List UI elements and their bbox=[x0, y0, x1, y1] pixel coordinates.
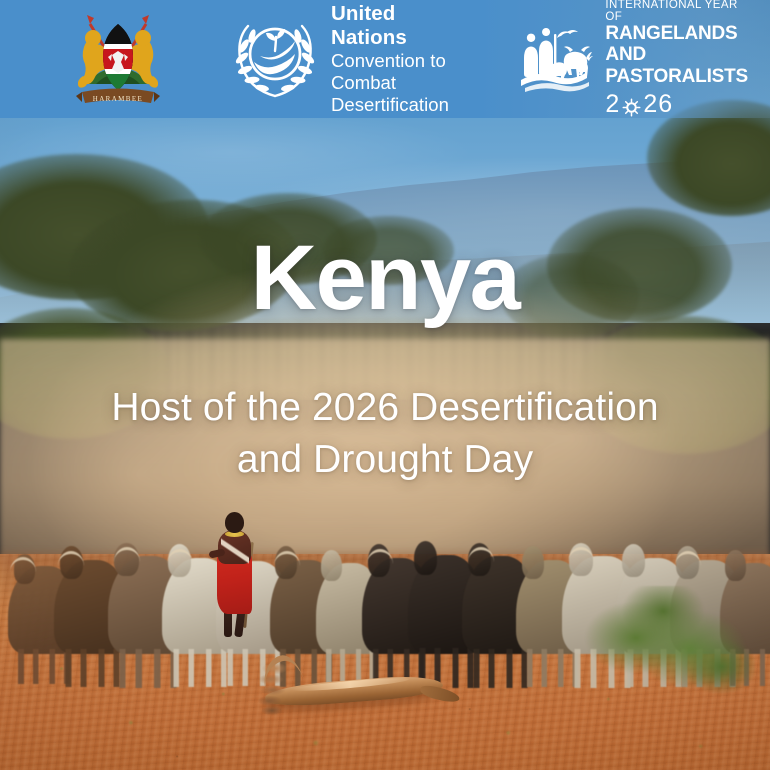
kenya-coat-of-arms-icon: HARAMBEE bbox=[66, 10, 170, 108]
cow-horn-icon bbox=[274, 551, 300, 566]
iyrp-year: 2 26 bbox=[605, 90, 748, 119]
kenya-coat-of-arms-logo: HARAMBEE bbox=[66, 10, 170, 108]
foreground-bush bbox=[585, 586, 755, 701]
cow-horn-icon bbox=[675, 551, 701, 566]
cow-horn-icon bbox=[114, 547, 140, 562]
iyrp-year-suffix: 26 bbox=[643, 90, 673, 119]
iyrp-2026-logo: INTERNATIONAL YEAR OF RANGELANDS AND PAS… bbox=[515, 0, 748, 119]
poster-root: HARAMBEE bbox=[0, 0, 770, 770]
page-title: Kenya bbox=[0, 232, 770, 324]
page-subtitle: Host of the 2026 Desertification and Dro… bbox=[0, 382, 770, 487]
unccd-line2: Convention to Combat bbox=[331, 50, 471, 94]
unccd-logo-text: United Nations Convention to Combat Dese… bbox=[331, 2, 471, 116]
subtitle-line-2: and Drought Day bbox=[48, 434, 722, 486]
cow-horn-icon bbox=[167, 549, 193, 564]
herder-head bbox=[225, 512, 244, 533]
iyrp-logo-text: INTERNATIONAL YEAR OF RANGELANDS AND PAS… bbox=[605, 0, 748, 119]
iyrp-line1: INTERNATIONAL YEAR OF bbox=[605, 0, 748, 23]
unccd-line1: United Nations bbox=[331, 2, 471, 50]
iyrp-year-prefix: 2 bbox=[605, 90, 620, 119]
maasai-herder bbox=[209, 512, 261, 637]
iyrp-line2: RANGELANDS AND bbox=[605, 23, 748, 66]
unccd-emblem-icon bbox=[232, 16, 318, 102]
herder-sash bbox=[221, 536, 249, 566]
iyrp-line3: PASTORALISTS bbox=[605, 66, 748, 87]
cow-horn-icon bbox=[58, 551, 84, 566]
cow-horn-icon bbox=[568, 547, 594, 562]
svg-text:HARAMBEE: HARAMBEE bbox=[93, 95, 143, 103]
title-block: Kenya bbox=[0, 232, 770, 324]
sun-wheel-icon bbox=[622, 95, 641, 114]
cow-horn-icon bbox=[10, 557, 36, 572]
driftwood-log bbox=[239, 660, 454, 718]
subtitle-line-1: Host of the 2026 Desertification bbox=[48, 382, 722, 434]
cow-horn-icon bbox=[367, 549, 393, 564]
unccd-logo: United Nations Convention to Combat Dese… bbox=[232, 2, 471, 116]
unccd-line3: Desertification bbox=[331, 94, 471, 116]
cow-horn-icon bbox=[468, 547, 494, 562]
rangelands-pastoralists-emblem-icon bbox=[515, 20, 593, 98]
logo-header-band: HARAMBEE bbox=[0, 0, 770, 118]
